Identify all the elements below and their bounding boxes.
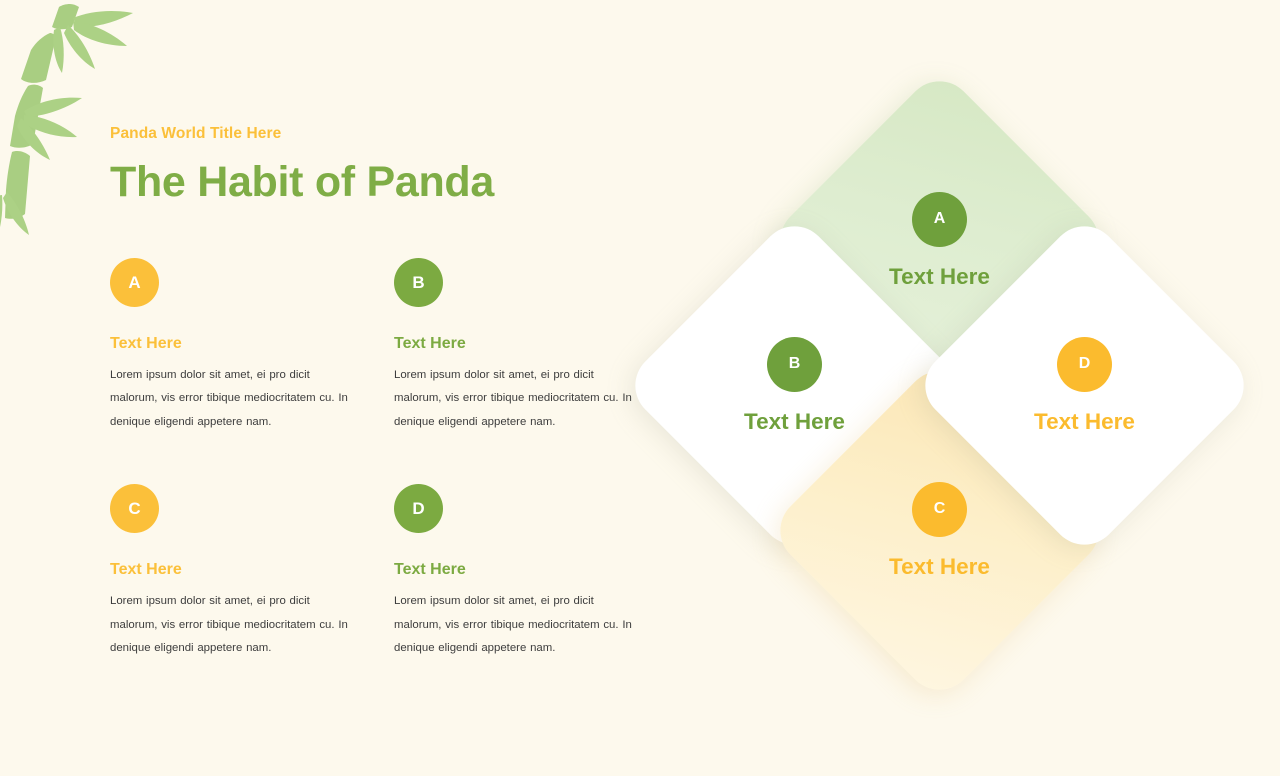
bamboo-segment-2 xyxy=(21,33,56,83)
bamboo-leaf-8 xyxy=(3,192,29,235)
diamond-d-content: D Text Here xyxy=(962,263,1207,508)
bamboo-leaf-2 xyxy=(73,21,127,46)
bamboo-leaf-5 xyxy=(24,98,82,117)
bamboo-leaf-cluster-lower xyxy=(17,98,82,160)
bamboo-leaf-cluster-bottom xyxy=(0,192,29,235)
diamond-card-d[interactable]: D Text Here xyxy=(911,212,1257,558)
feature-body-d: Lorem ipsum dolor sit amet, ei pro dicit… xyxy=(394,590,644,660)
feature-item-d[interactable]: D Text Here Lorem ipsum dolor sit amet, … xyxy=(394,484,644,660)
bamboo-leaf-6 xyxy=(24,115,77,137)
diamond-badge-b: B xyxy=(767,337,822,392)
bamboo-leaf-7 xyxy=(17,118,50,160)
bamboo-leaf-3 xyxy=(64,25,95,69)
diamond-badge-d: D xyxy=(1057,337,1112,392)
feature-grid: A Text Here Lorem ipsum dolor sit amet, … xyxy=(110,258,685,661)
feature-item-c[interactable]: C Text Here Lorem ipsum dolor sit amet, … xyxy=(110,484,360,660)
feature-badge-c: C xyxy=(110,484,159,533)
eyebrow-title: Panda World Title Here xyxy=(110,125,670,144)
feature-body-b: Lorem ipsum dolor sit amet, ei pro dicit… xyxy=(394,364,644,434)
page-title: The Habit of Panda xyxy=(110,158,670,207)
bamboo-segment-4 xyxy=(5,151,30,219)
feature-heading-b: Text Here xyxy=(394,335,644,353)
feature-badge-a: A xyxy=(110,258,159,307)
bamboo-leaf-9 xyxy=(0,195,2,235)
bamboo-leaf-4 xyxy=(53,27,63,73)
feature-body-a: Lorem ipsum dolor sit amet, ei pro dicit… xyxy=(110,364,360,434)
bamboo-leaf-1 xyxy=(73,11,133,27)
bamboo-segment-3 xyxy=(10,85,43,148)
feature-item-a[interactable]: A Text Here Lorem ipsum dolor sit amet, … xyxy=(110,258,360,434)
feature-heading-a: Text Here xyxy=(110,335,360,353)
diamond-cluster: A Text Here B Text Here C Text Here D Te… xyxy=(650,100,1230,680)
feature-heading-d: Text Here xyxy=(394,561,644,579)
feature-heading-c: Text Here xyxy=(110,561,360,579)
headline-block: Panda World Title Here The Habit of Pand… xyxy=(110,125,670,207)
bamboo-segment-1 xyxy=(52,4,79,29)
feature-badge-b: B xyxy=(394,258,443,307)
feature-item-b[interactable]: B Text Here Lorem ipsum dolor sit amet, … xyxy=(394,258,644,434)
diamond-label-c: Text Here xyxy=(889,554,990,580)
feature-body-c: Lorem ipsum dolor sit amet, ei pro dicit… xyxy=(110,590,360,660)
diamond-badge-a: A xyxy=(912,192,967,247)
feature-badge-d: D xyxy=(394,484,443,533)
diamond-badge-c: C xyxy=(912,482,967,537)
diamond-label-d: Text Here xyxy=(1034,409,1135,435)
bamboo-leaf-cluster-upper xyxy=(53,11,133,73)
bamboo-stalk-group xyxy=(5,4,79,219)
